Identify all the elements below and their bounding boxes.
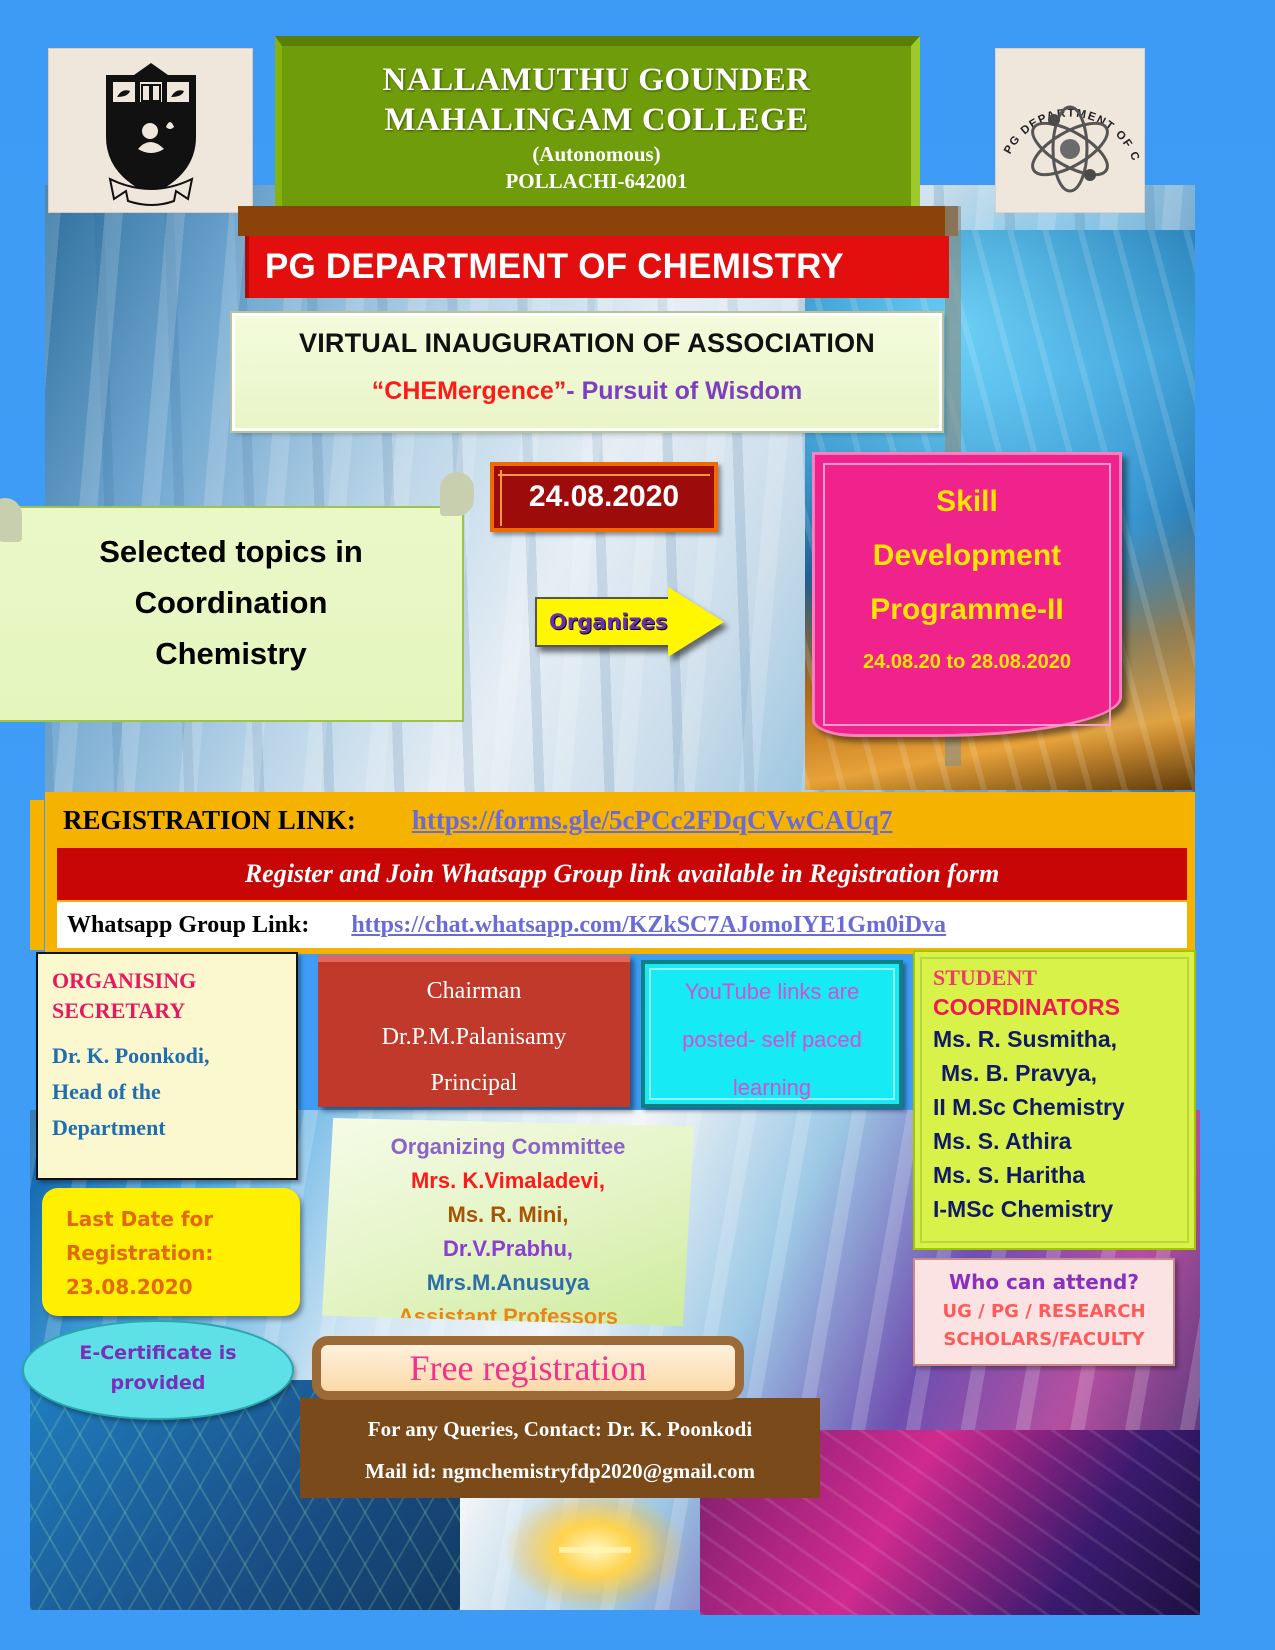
student-name-3: Ms. S. Athira [923,1124,1186,1158]
chairman-title: Chairman [318,962,630,1014]
contact-queries: For any Queries, Contact: Dr. K. Poonkod… [300,1408,820,1450]
brown-divider-bar [238,206,958,236]
committee-member-2: Ms. R. Mini, [322,1198,694,1232]
organising-secretary-panel: ORGANISING SECRETARY Dr. K. Poonkodi, He… [36,952,298,1180]
organizes-label: Organizes [549,610,668,634]
who-can-attend-line1: UG / PG / RESEARCH [915,1298,1173,1326]
students-heading-line2: COORDINATORS [923,992,1186,1022]
organizing-committee-panel: Organizing Committee Mrs. K.Vimaladevi, … [322,1118,694,1326]
college-location: POLLACHI-642001 [282,168,911,194]
students-heading-line1: STUDENT [923,958,1186,992]
college-logo [48,48,253,213]
contact-panel: For any Queries, Contact: Dr. K. Poonkod… [300,1398,820,1498]
contact-mail: Mail id: ngmchemistryfdp2020@gmail.com [300,1450,820,1492]
registration-notice: Register and Join Whatsapp Group link av… [57,848,1187,900]
organizes-arrow-head [668,587,724,657]
topics-line1: Selected topics in [0,526,462,577]
whatsapp-link-label: Whatsapp Group Link: [57,912,309,939]
registration-notice-text: Register and Join Whatsapp Group link av… [245,859,999,889]
atom-icon: PG DEPARTMENT OF CHEMISTRY [996,49,1144,212]
free-registration-badge: Free registration [312,1336,744,1400]
association-tagline: - Pursuit of Wisdom [566,377,802,405]
registration-left-edge [30,800,44,950]
who-can-attend-heading: Who can attend? [915,1260,1173,1294]
who-can-attend-line2: SCHOLARS/FACULTY [915,1326,1173,1354]
student-class-1: II M.Sc Chemistry [923,1090,1186,1124]
whatsapp-link-row: Whatsapp Group Link: https://chat.whatsa… [57,902,1187,948]
registration-link-row: REGISTRATION LINK: https://forms.gle/5cP… [45,792,1189,848]
skill-dates: 24.08.20 to 28.08.2020 [815,651,1119,674]
registration-link-url[interactable]: https://forms.gle/5cPCc2FDqCVwCAUq7 [412,805,893,836]
department-banner: PG DEPARTMENT OF CHEMISTRY [245,236,949,298]
youtube-note-panel: YouTube links are posted- self paced lea… [641,960,903,1108]
ecertificate-line2: provided [24,1368,292,1398]
sunburst-decoration [505,1490,685,1610]
organising-secretary-role-line2: Department [52,1110,282,1146]
last-date-value: 23.08.2020 [66,1270,300,1304]
association-subtitle: “CHEMergence”- Pursuit of Wisdom [235,377,939,406]
student-name-4: Ms. S. Haritha [923,1158,1186,1192]
committee-member-3: Dr.V.Prabhu, [322,1232,694,1266]
registration-link-label: REGISTRATION LINK: [45,805,356,836]
last-date-line1: Last Date for [66,1202,300,1236]
student-name-2: Ms. B. Pravya, [923,1056,1186,1090]
ecertificate-line1: E-Certificate is [24,1322,292,1368]
student-class-2: I-MSc Chemistry [923,1192,1186,1226]
organising-secretary-name: Dr. K. Poonkodi, [52,1038,282,1074]
committee-member-4: Mrs.M.Anusuya [322,1266,694,1300]
poster-root: NALLAMUTHU GOUNDER MAHALINGAM COLLEGE (A… [0,0,1275,1650]
student-coordinators-panel: STUDENT COORDINATORS Ms. R. Susmitha, Ms… [913,950,1196,1250]
youtube-note-line2: posted- self paced [645,1012,899,1060]
registration-strip: REGISTRATION LINK: https://forms.gle/5cP… [45,792,1195,954]
organizes-arrow: Organizes [535,588,725,656]
event-date-box: 24.08.2020 [490,462,718,532]
topics-line3: Chemistry [0,628,462,679]
skill-line2: Development [815,529,1119,583]
who-can-attend-panel: Who can attend? UG / PG / RESEARCH SCHOL… [913,1258,1175,1366]
association-name: “CHEMergence” [372,377,567,405]
college-crest-icon [76,57,226,207]
event-date: 24.08.2020 [529,480,679,514]
topics-line2: Coordination [0,577,462,628]
organising-secretary-heading-line2: SECRETARY [52,996,282,1026]
college-name-line2: MAHALINGAM COLLEGE [282,100,911,140]
ecertificate-badge: E-Certificate is provided [22,1320,294,1420]
youtube-note-line3: learning [645,1060,899,1108]
last-date-line2: Registration: [66,1236,300,1270]
chairman-panel: Chairman Dr.P.M.Palanisamy Principal [318,955,630,1107]
organising-secretary-role-line1: Head of the [52,1074,282,1110]
page-curl-right-icon [440,472,474,516]
college-autonomous: (Autonomous) [282,140,911,168]
organising-secretary-heading-line1: ORGANISING [52,966,282,996]
college-name-line1: NALLAMUTHU GOUNDER [282,60,911,100]
youtube-note-line1: YouTube links are [645,964,899,1012]
free-registration-label: Free registration [410,1347,647,1389]
association-box: VIRTUAL INAUGURATION OF ASSOCIATION “CHE… [232,313,942,431]
college-title-plate: NALLAMUTHU GOUNDER MAHALINGAM COLLEGE (A… [275,36,920,214]
department-banner-text: PG DEPARTMENT OF CHEMISTRY [249,247,844,287]
skill-line1: Skill [815,455,1119,529]
page-curl-left-icon [0,498,22,542]
chairman-designation: Principal [318,1060,630,1106]
topics-card: Selected topics in Coordination Chemistr… [0,506,464,722]
whatsapp-link-url[interactable]: https://chat.whatsapp.com/KZkSC7AJomoIYE… [351,912,946,939]
association-title: VIRTUAL INAUGURATION OF ASSOCIATION [235,328,939,359]
department-logo: PG DEPARTMENT OF CHEMISTRY [995,48,1145,213]
chairman-name: Dr.P.M.Palanisamy [318,1014,630,1060]
skill-line3: Programme-II [815,583,1119,637]
skill-programme-box: Skill Development Programme-II 24.08.20 … [812,452,1122,737]
last-date-panel: Last Date for Registration: 23.08.2020 [42,1188,300,1316]
committee-member-1: Mrs. K.Vimaladevi, [322,1164,694,1198]
student-name-1: Ms. R. Susmitha, [923,1022,1186,1056]
